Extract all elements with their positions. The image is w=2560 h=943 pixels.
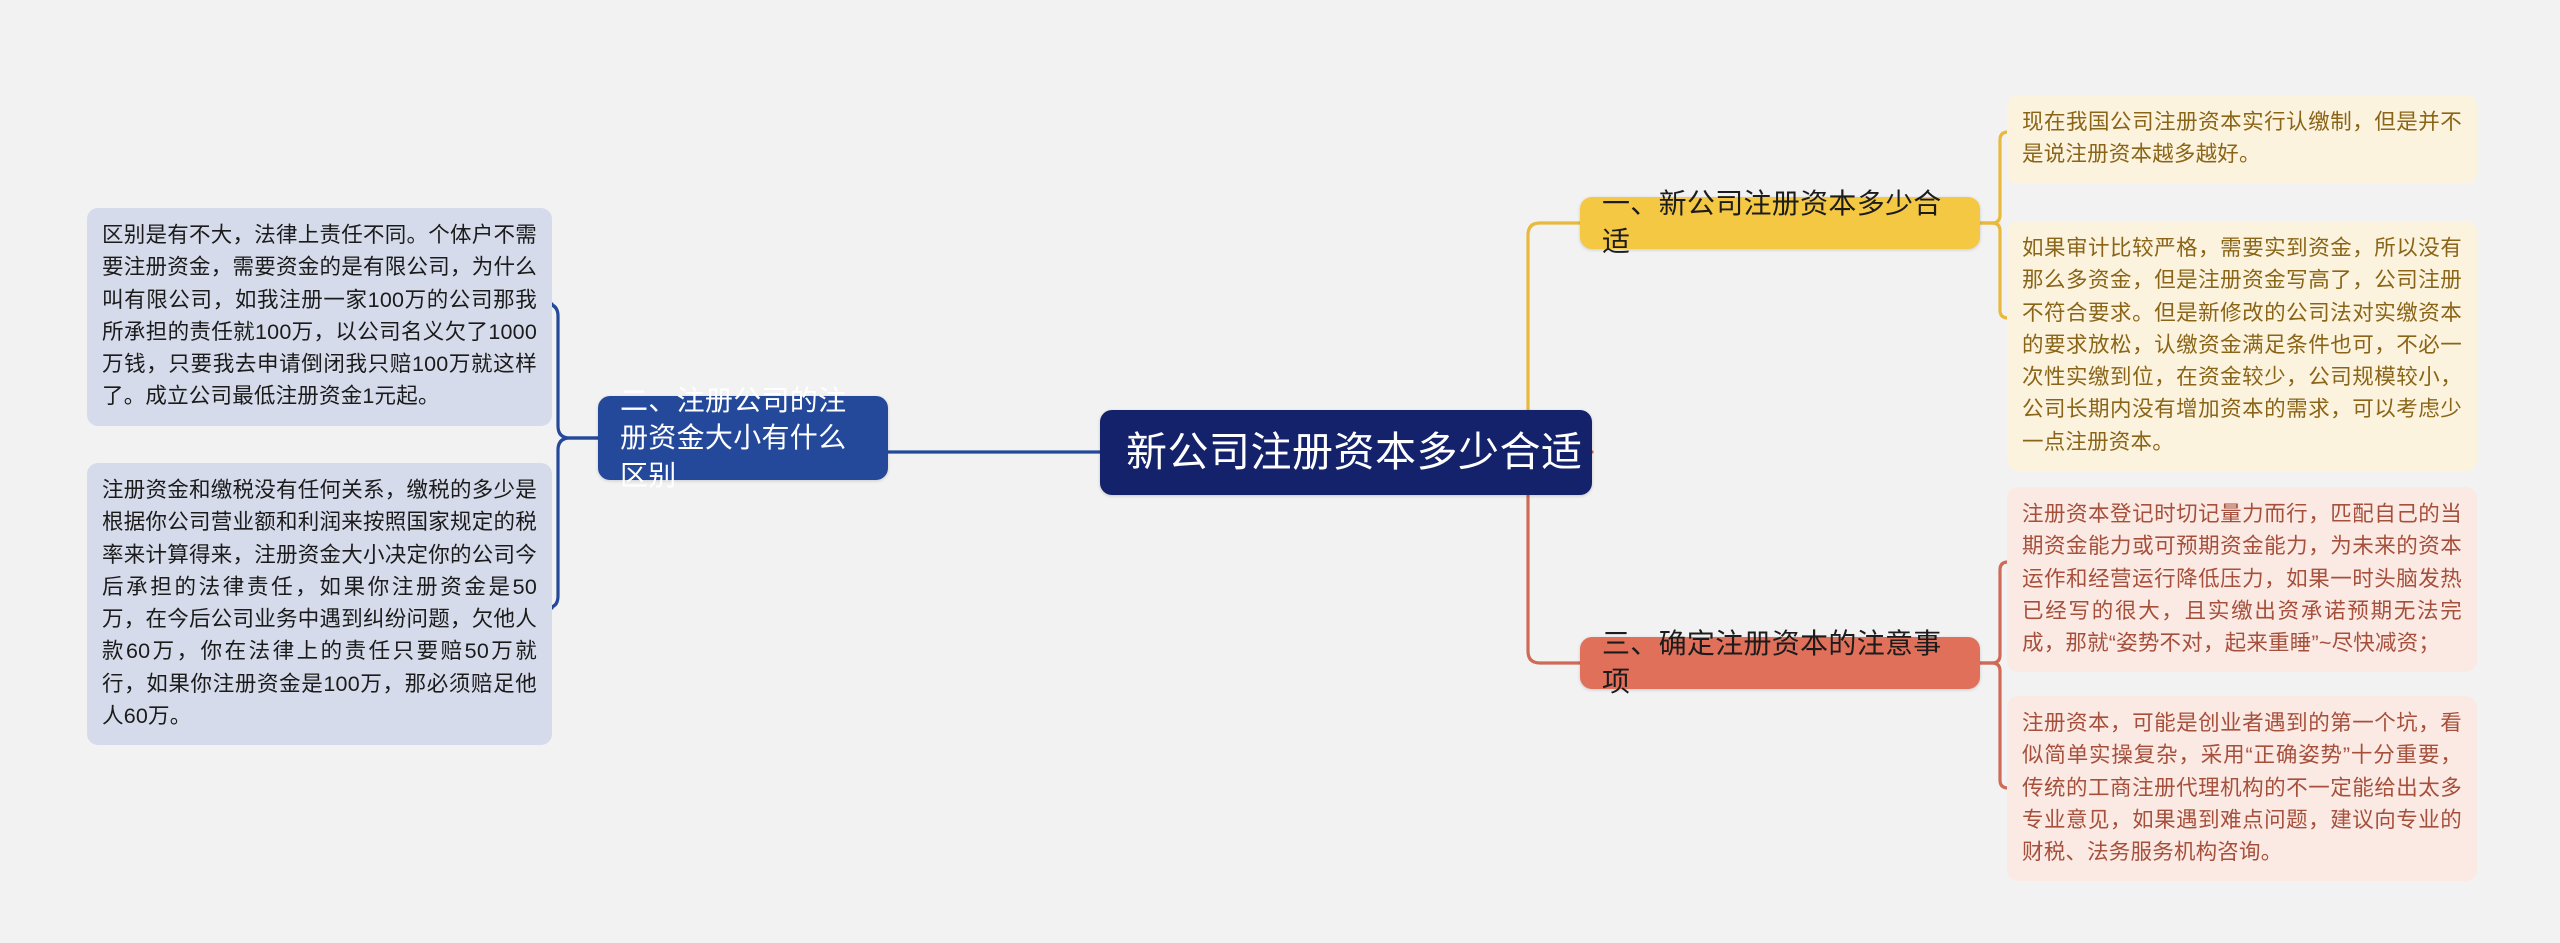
- leaf-node-one-1-text: 现在我国公司注册资本实行认缴制，但是并不是说注册资本越多越好。: [2022, 106, 2462, 171]
- connector-branch-two-to-leaf-2: [546, 438, 598, 608]
- mindmap-canvas: 新公司注册资本多少合适 二、注册公司的注册资金大小有什么区别 一、新公司注册资本…: [0, 0, 2560, 943]
- connector-branch-one-to-leaf-2: [1980, 223, 2008, 318]
- leaf-node-three-2-text: 注册资本，可能是创业者遇到的第一个坑，看似简单实操复杂，采用“正确姿势”十分重要…: [2022, 707, 2462, 868]
- leaf-node-two-2[interactable]: 注册资金和缴税没有任何关系，缴税的多少是根据你公司营业额和利润来按照国家规定的税…: [87, 463, 552, 745]
- leaf-node-one-2[interactable]: 如果审计比较严格，需要实到资金，所以没有那么多资金，但是注册资金写高了，公司注册…: [2007, 221, 2477, 471]
- root-node-label: 新公司注册资本多少合适: [1126, 430, 1583, 475]
- leaf-node-three-2[interactable]: 注册资本，可能是创业者遇到的第一个坑，看似简单实操复杂，采用“正确姿势”十分重要…: [2007, 696, 2477, 881]
- leaf-node-three-1[interactable]: 注册资本登记时切记量力而行，匹配自己的当期资金能力或可预期资金能力，为未来的资本…: [2007, 487, 2477, 672]
- leaf-node-two-1-text: 区别是有不大，法律上责任不同。个体户不需要注册资金，需要资金的是有限公司，为什么…: [102, 219, 537, 413]
- branch-node-one[interactable]: 一、新公司注册资本多少合适: [1580, 197, 1980, 249]
- root-node[interactable]: 新公司注册资本多少合适: [1100, 410, 1592, 495]
- connector-branch-three-to-leaf-1: [1980, 562, 2008, 663]
- leaf-node-one-2-text: 如果审计比较严格，需要实到资金，所以没有那么多资金，但是注册资金写高了，公司注册…: [2022, 232, 2462, 458]
- branch-node-three[interactable]: 三、确定注册资本的注意事项: [1580, 637, 1980, 689]
- leaf-node-two-1[interactable]: 区别是有不大，法律上责任不同。个体户不需要注册资金，需要资金的是有限公司，为什么…: [87, 208, 552, 426]
- branch-node-two-label: 二、注册公司的注册资金大小有什么区别: [620, 382, 866, 495]
- branch-node-one-label: 一、新公司注册资本多少合适: [1602, 185, 1958, 260]
- leaf-node-two-2-text: 注册资金和缴税没有任何关系，缴税的多少是根据你公司营业额和利润来按照国家规定的税…: [102, 474, 537, 732]
- connector-branch-one-to-leaf-1: [1980, 132, 2008, 223]
- branch-node-three-label: 三、确定注册资本的注意事项: [1602, 625, 1958, 700]
- leaf-node-three-1-text: 注册资本登记时切记量力而行，匹配自己的当期资金能力或可预期资金能力，为未来的资本…: [2022, 498, 2462, 659]
- connector-branch-two-to-leaf-1: [546, 304, 598, 438]
- leaf-node-one-1[interactable]: 现在我国公司注册资本实行认缴制，但是并不是说注册资本越多越好。: [2007, 95, 2477, 184]
- connector-branch-three-to-leaf-2: [1980, 663, 2008, 788]
- branch-node-two[interactable]: 二、注册公司的注册资金大小有什么区别: [598, 396, 888, 480]
